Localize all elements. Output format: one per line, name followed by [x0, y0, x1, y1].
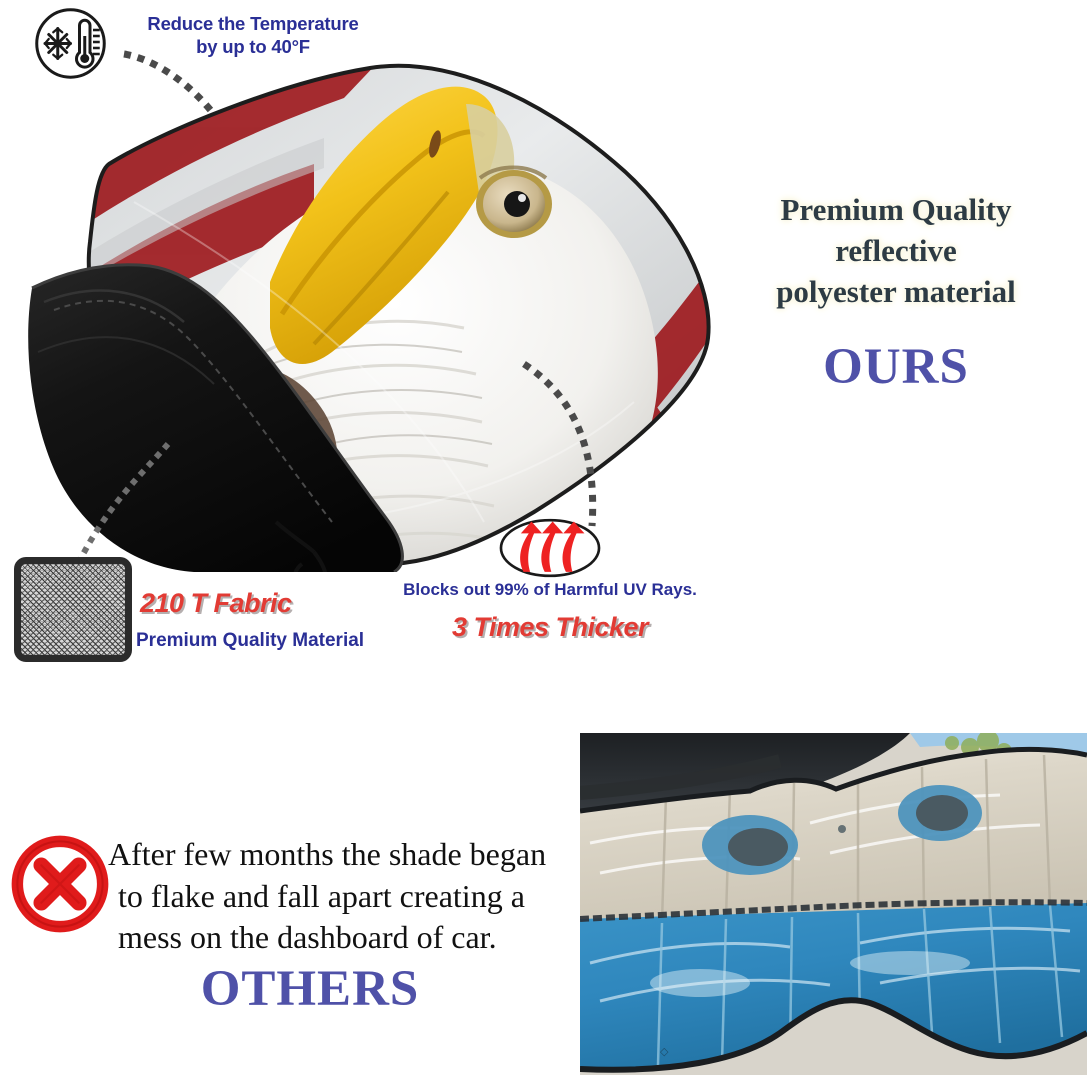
complaint-line-2: to flake and fall apart creating a: [108, 876, 578, 918]
temperature-line-1: Reduce the Temperature: [128, 13, 378, 36]
fabric-subtitle: Premium Quality Material: [136, 630, 386, 652]
product-photo-others: ◇: [580, 733, 1087, 1075]
headline-line-1: Premium Quality: [712, 190, 1080, 231]
headline-line-2: reflective: [712, 231, 1080, 272]
headline-line-3: polyester material: [712, 272, 1080, 313]
product-photo-ours: [14, 52, 726, 572]
infographic-canvas: Reduce the Temperature by up to 40°F: [0, 0, 1087, 1075]
complaint-line-1: After few months the shade began: [108, 834, 578, 876]
svg-text:◇: ◇: [660, 1046, 669, 1058]
uv-rays-arrows-icon: [497, 516, 603, 580]
fabric-swatch: [14, 557, 132, 662]
thickness-label: 3 Times Thicker: [400, 612, 700, 643]
complaint-line-3: mess on the dashboard of car.: [108, 917, 578, 959]
fabric-title: 210 T Fabric: [140, 588, 340, 619]
ours-label: OURS: [712, 338, 1080, 396]
red-x-circle-icon: [8, 832, 112, 936]
headline-premium-quality: Premium Quality reflective polyester mat…: [712, 190, 1080, 313]
others-complaint-text: After few months the shade began to flak…: [108, 834, 578, 959]
others-label: OTHERS: [120, 960, 500, 1018]
uv-blocking-label: Blocks out 99% of Harmful UV Rays.: [375, 580, 725, 600]
fabric-weave-texture: [21, 564, 125, 655]
